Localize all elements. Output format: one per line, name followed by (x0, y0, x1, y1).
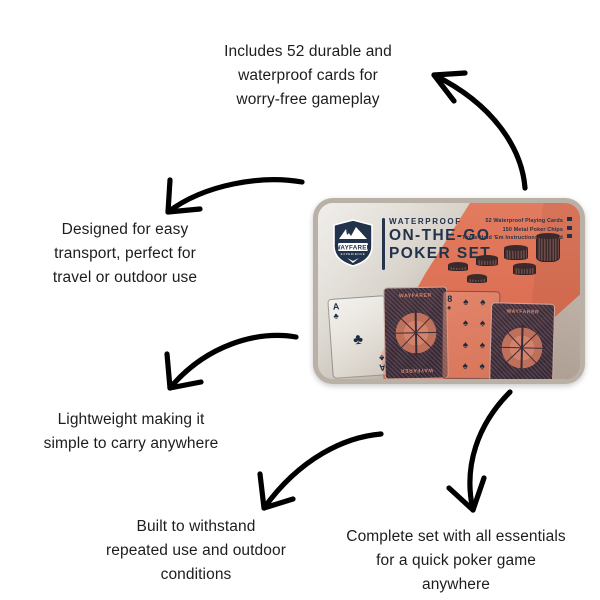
bullet-square-icon (567, 217, 572, 221)
callout-easy-transport: Designed for easy transport, perfect for… (24, 218, 226, 290)
card-suit-icon: ♠ (447, 304, 452, 313)
card-rank: A (332, 301, 339, 311)
poker-chip-stack (513, 265, 536, 275)
arrow-to-durability-callout (260, 434, 381, 508)
poker-set-tin: WAYFARER EXPERIENCE WATERPROOF ON-THE-GO… (313, 198, 585, 384)
card-back-medallion-icon (393, 310, 440, 357)
card-corner-index: 8 ♠ (447, 295, 452, 313)
title-divider (382, 218, 385, 270)
poker-chip-stack (476, 257, 498, 266)
feature-text: 150 Metal Poker Chips (503, 227, 563, 233)
feature-text: 52 Waterproof Playing Cards (485, 218, 563, 224)
bullet-square-icon (567, 226, 572, 230)
wayfarer-shield-logo-icon: WAYFARER EXPERIENCE (332, 219, 374, 267)
callout-includes-cards: Includes 52 durable and waterproof cards… (196, 40, 420, 112)
callout-lightweight: Lightweight making it simple to carry an… (18, 408, 244, 456)
card-suit-icon: ♠ (480, 298, 485, 308)
callout-complete-set: Complete set with all essentials for a q… (325, 525, 587, 597)
card-suit-icon: ♠ (480, 319, 485, 329)
card-center-suit-icon: ♣ (353, 332, 364, 348)
card-back-brand: WAYFARER (492, 308, 554, 316)
card-suit-icon: ♠ (463, 319, 468, 329)
card-suit-icon: ♠ (480, 341, 485, 351)
card-suit-icon: ♠ (463, 298, 468, 308)
product-image: WAYFARER EXPERIENCE WATERPROOF ON-THE-GO… (313, 198, 585, 384)
card-rank: 8 (447, 294, 452, 304)
card-suit-icon: ♣ (333, 311, 340, 320)
poker-chip-stack (536, 235, 560, 262)
card-back-spokes (393, 310, 440, 357)
card-suit-icon: ♠ (463, 341, 468, 351)
card-suit-icon: ♠ (463, 362, 468, 372)
card-back-brand: WAYFARER (386, 366, 448, 373)
card-back: WAYFARER WAYFARER (383, 286, 449, 379)
poker-chip-stack (448, 264, 468, 271)
arrow-to-complete-set-callout (449, 392, 510, 510)
card-corner-index: A ♣ (333, 302, 341, 320)
feature-item: 52 Waterproof Playing Cards (462, 217, 572, 226)
arrow-to-lightweight-callout (167, 335, 296, 388)
bullet-square-icon (567, 234, 572, 238)
card-ace-of-clubs: A ♣ ♣ A ♣ (327, 295, 390, 379)
card-back-spokes (498, 324, 545, 371)
arrow-to-transport-callout (168, 180, 302, 212)
infographic-canvas: Includes 52 durable and waterproof cards… (0, 0, 600, 600)
poker-chip-stack (467, 276, 487, 283)
svg-text:WAYFARER: WAYFARER (335, 244, 372, 251)
card-back-medallion-icon (498, 324, 545, 371)
tin-face: WAYFARER EXPERIENCE WATERPROOF ON-THE-GO… (318, 203, 580, 379)
poker-chip-stack (504, 247, 528, 260)
card-back: WAYFARER WAYFARER (489, 302, 555, 379)
callout-durability: Built to withstand repeated use and outd… (86, 515, 306, 587)
card-suit-icon: ♠ (480, 362, 485, 372)
arrow-to-top-callout (434, 73, 525, 188)
card-back-brand: WAYFARER (384, 292, 446, 299)
card-pip-grid: ♠ ♠ ♠ ♠ ♠ ♠ ♠ ♠ (457, 298, 492, 372)
svg-text:EXPERIENCE: EXPERIENCE (341, 252, 366, 256)
